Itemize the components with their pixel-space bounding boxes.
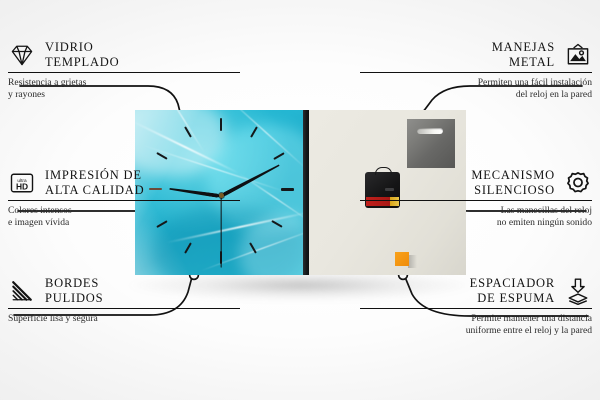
feature-title: MECANISMO SILENCIOSO [471, 168, 555, 197]
metal-hanger-plate [407, 119, 455, 168]
feature-impresion-alta-calidad: ultra HD IMPRESIÓN DE ALTA CALIDAD Color… [8, 168, 240, 229]
feature-header: ultra HD IMPRESIÓN DE ALTA CALIDAD [8, 168, 240, 197]
feature-mecanismo-silencioso: MECANISMO SILENCIOSO Las manecillas del … [360, 168, 592, 229]
clock-tick [281, 188, 294, 191]
feature-subtitle: Superficie lisa y segura [8, 313, 240, 325]
feature-title: BORDES PULIDOS [45, 276, 103, 305]
divider [8, 72, 240, 73]
hanger-keyhole-slot [417, 128, 443, 134]
feature-header: BORDES PULIDOS [8, 276, 240, 305]
feature-subtitle: Las manecillas del reloj no emiten ningú… [360, 205, 592, 228]
feature-subtitle: Permite mantener una distancia uniforme … [360, 313, 592, 336]
feature-espaciador-espuma: ESPACIADOR DE ESPUMA Permite mantener un… [360, 276, 592, 337]
gear-icon [564, 169, 592, 197]
infographic-canvas: VIDRIO TEMPLADO Resistencia a grietas y … [0, 0, 600, 400]
feature-subtitle: Permiten una fácil instalación del reloj… [360, 77, 592, 100]
feature-header: MECANISMO SILENCIOSO [360, 168, 592, 197]
clock-tick [220, 118, 222, 131]
feature-title: MANEJAS METAL [492, 40, 555, 69]
foam-spacer-icon [564, 277, 592, 305]
feature-title: IMPRESIÓN DE ALTA CALIDAD [45, 168, 144, 197]
diamond-icon [8, 41, 36, 69]
feature-subtitle: Resistencia a grietas y rayones [8, 77, 240, 100]
divider [360, 200, 592, 201]
feature-header: ESPACIADOR DE ESPUMA [360, 276, 592, 305]
polished-edges-icon [8, 277, 36, 305]
ultra-hd-badge-icon: ultra HD [8, 169, 36, 197]
picture-hanger-icon [564, 41, 592, 69]
feature-title: ESPACIADOR DE ESPUMA [470, 276, 555, 305]
divider [8, 308, 240, 309]
divider [360, 308, 592, 309]
feature-header: VIDRIO TEMPLADO [8, 40, 240, 69]
divider [360, 72, 592, 73]
svg-text:HD: HD [16, 181, 28, 191]
divider [8, 200, 240, 201]
feature-header: MANEJAS METAL [360, 40, 592, 69]
feature-manejas-metal: MANEJAS METAL Permiten una fácil instala… [360, 40, 592, 101]
feature-title: VIDRIO TEMPLADO [45, 40, 119, 69]
feature-bordes-pulidos: BORDES PULIDOS Superficie lisa y segura [8, 276, 240, 325]
feature-subtitle: Colores intensos e imagen vívida [8, 205, 240, 228]
foam-spacer [395, 252, 409, 266]
feature-vidrio-templado: VIDRIO TEMPLADO Resistencia a grietas y … [8, 40, 240, 101]
foam-spacer-shadow [408, 255, 417, 268]
